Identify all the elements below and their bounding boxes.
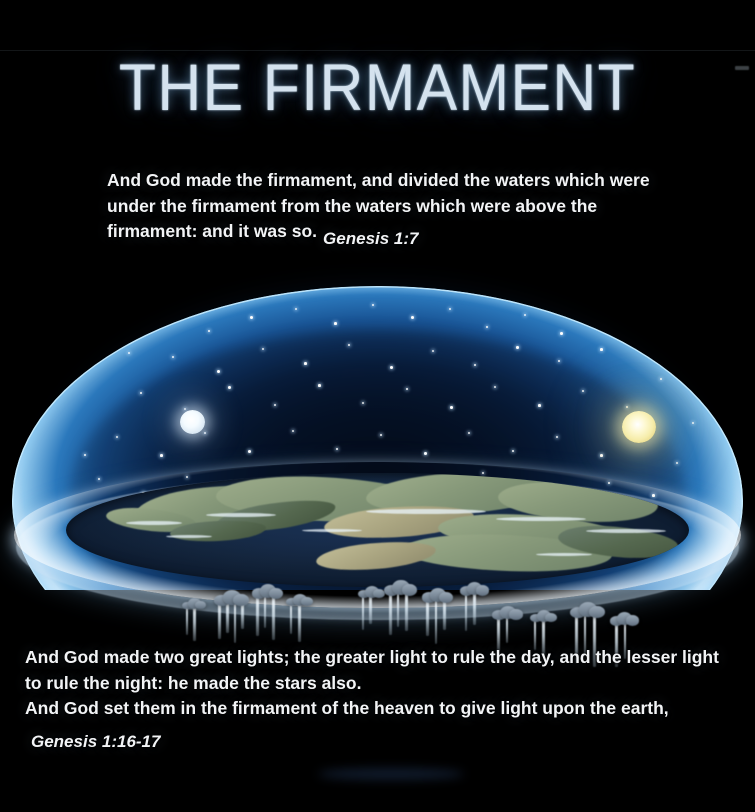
cloud bbox=[402, 584, 417, 596]
cloud bbox=[269, 588, 283, 599]
star bbox=[411, 316, 414, 319]
top-verse-block: And God made the firmament, and divided … bbox=[107, 168, 667, 245]
star bbox=[660, 378, 662, 380]
cloud bbox=[589, 606, 605, 618]
star bbox=[449, 308, 451, 310]
rain-streak bbox=[290, 604, 292, 634]
star bbox=[626, 406, 628, 408]
star bbox=[538, 404, 541, 407]
bottom-smudge bbox=[318, 768, 464, 780]
star bbox=[204, 432, 206, 434]
moon-icon bbox=[180, 410, 205, 434]
flat-earth-disc bbox=[14, 462, 741, 622]
star bbox=[84, 454, 86, 456]
shoreline bbox=[366, 509, 486, 514]
star bbox=[692, 422, 694, 424]
cloud bbox=[509, 609, 523, 619]
bottom-verse-line2: And God set them in the firmament of the… bbox=[25, 698, 669, 718]
cloud bbox=[439, 592, 453, 603]
star bbox=[450, 406, 453, 409]
shoreline bbox=[302, 529, 362, 532]
star bbox=[295, 308, 297, 310]
landmass bbox=[315, 538, 437, 574]
star bbox=[336, 448, 338, 450]
cloud bbox=[476, 585, 489, 595]
star bbox=[292, 430, 294, 432]
cloud-group bbox=[252, 584, 282, 654]
rain-streak bbox=[264, 596, 266, 628]
star bbox=[600, 454, 603, 457]
rain-streak bbox=[389, 593, 392, 635]
rain-streak bbox=[256, 596, 259, 636]
rain-streak bbox=[397, 593, 399, 627]
cloud-group bbox=[460, 582, 488, 651]
star bbox=[468, 432, 470, 434]
rain-streak bbox=[241, 603, 244, 629]
star bbox=[582, 390, 584, 392]
star bbox=[160, 454, 163, 457]
shoreline bbox=[206, 513, 276, 517]
star bbox=[432, 350, 434, 352]
star bbox=[486, 326, 488, 328]
rain-streak bbox=[193, 607, 196, 641]
star bbox=[560, 332, 563, 335]
bottom-verse-block: And God made two great lights; the great… bbox=[25, 645, 737, 747]
star bbox=[304, 362, 307, 365]
cloud-group bbox=[384, 580, 416, 651]
shoreline bbox=[126, 521, 182, 525]
cloud bbox=[233, 594, 249, 606]
star bbox=[372, 304, 374, 306]
rain-streak bbox=[298, 604, 301, 642]
star bbox=[128, 352, 130, 354]
star bbox=[390, 366, 393, 369]
star bbox=[248, 450, 251, 453]
star bbox=[512, 450, 514, 452]
star bbox=[406, 388, 408, 390]
star bbox=[184, 408, 186, 410]
firmament-illustration bbox=[0, 272, 755, 644]
rain-streak bbox=[426, 600, 429, 636]
star bbox=[516, 346, 519, 349]
rain-streak bbox=[465, 593, 467, 631]
star bbox=[424, 452, 427, 455]
star bbox=[262, 348, 264, 350]
cloud-group bbox=[358, 586, 384, 654]
star bbox=[524, 314, 526, 316]
star bbox=[380, 434, 382, 436]
cloud bbox=[301, 597, 313, 606]
shoreline bbox=[586, 529, 666, 533]
star bbox=[362, 402, 364, 404]
rain-streak bbox=[272, 596, 275, 640]
rain-streak bbox=[506, 617, 508, 643]
star bbox=[334, 322, 337, 325]
rain-streak bbox=[218, 603, 221, 639]
rain-streak bbox=[405, 593, 408, 631]
star bbox=[556, 436, 558, 438]
rain-streak bbox=[186, 607, 188, 635]
star bbox=[348, 344, 350, 346]
star bbox=[172, 356, 174, 358]
sun-icon bbox=[622, 411, 656, 443]
star bbox=[600, 348, 603, 351]
star bbox=[318, 384, 321, 387]
star bbox=[494, 386, 496, 388]
star bbox=[274, 404, 276, 406]
rain-streak bbox=[226, 603, 229, 633]
page-title: THE FIRMAMENT bbox=[30, 52, 725, 122]
star bbox=[250, 316, 253, 319]
star bbox=[140, 392, 142, 394]
star bbox=[558, 360, 560, 362]
star bbox=[208, 330, 210, 332]
star bbox=[228, 386, 231, 389]
cloud bbox=[626, 615, 639, 625]
rain-streak bbox=[369, 596, 372, 624]
star bbox=[620, 322, 622, 324]
shoreline bbox=[536, 553, 592, 556]
star bbox=[217, 370, 220, 373]
cloud bbox=[373, 589, 385, 598]
shoreline bbox=[166, 535, 212, 538]
cloud bbox=[195, 601, 206, 610]
rain-streak bbox=[473, 593, 476, 625]
bottom-verse-line1: And God made two great lights; the great… bbox=[25, 647, 719, 693]
star bbox=[474, 364, 476, 366]
rain-streak bbox=[435, 600, 437, 644]
bottom-verse-citation: Genesis 1:16-17 bbox=[31, 729, 160, 755]
rain-streak bbox=[443, 600, 446, 630]
rain-streak bbox=[362, 596, 364, 630]
shoreline bbox=[496, 517, 586, 521]
star bbox=[116, 436, 118, 438]
ocean-surface bbox=[66, 473, 689, 587]
cloud bbox=[545, 613, 557, 622]
rain-streak bbox=[234, 603, 236, 643]
image-canvas: THE FIRMAMENT And God made the firmament… bbox=[0, 0, 755, 812]
corner-glint bbox=[735, 66, 749, 70]
top-verse-citation: Genesis 1:7 bbox=[323, 226, 418, 252]
